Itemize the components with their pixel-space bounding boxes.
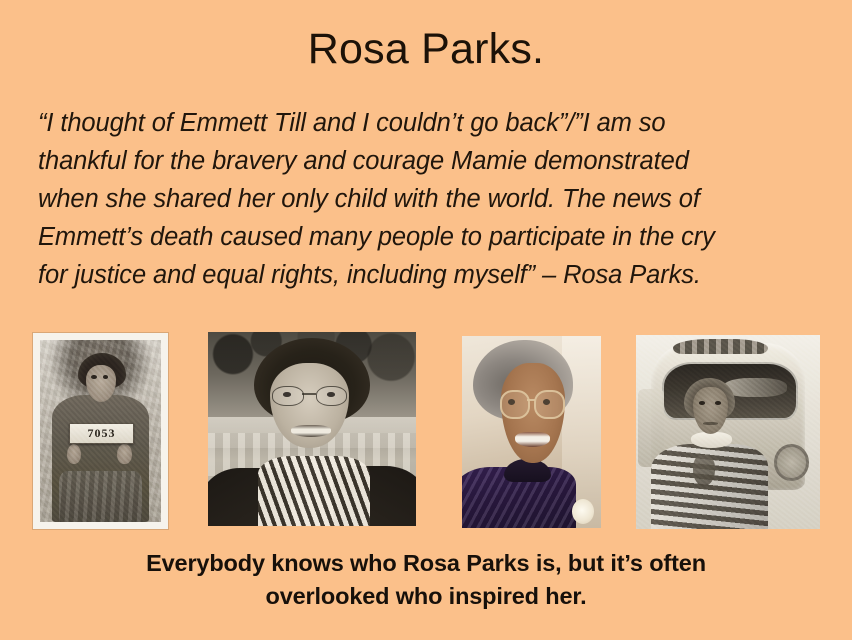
mugshot-image: 7053 — [40, 340, 161, 522]
young-portrait-image — [208, 332, 416, 526]
photo-rosa-parks-young-portrait — [208, 332, 416, 526]
quote-block: “I thought of Emmett Till and I couldn’t… — [38, 104, 810, 294]
bus-photo-film-grain — [636, 335, 820, 529]
young-portrait-glasses-lens-left — [272, 386, 303, 405]
photo-rosa-parks-mugshot: 7053 — [33, 333, 168, 529]
quote-line: thankful for the bravery and courage Mam… — [38, 142, 810, 180]
photo-rosa-parks-elderly-portrait — [462, 336, 601, 528]
young-portrait-glasses-bridge — [302, 393, 317, 395]
photo-strip: 7053 — [0, 331, 852, 531]
elderly-portrait-image — [462, 336, 601, 528]
elderly-portrait-corsage — [572, 499, 594, 524]
slide-canvas: Rosa Parks. “I thought of Emmett Till an… — [0, 0, 852, 640]
caption-line: overlooked who inspired her. — [0, 580, 852, 613]
photo-rosa-parks-bus — [636, 335, 820, 529]
quote-line: when she shared her only child with the … — [38, 180, 810, 218]
quote-line: “I thought of Emmett Till and I couldn’t… — [38, 104, 810, 142]
slide-caption: Everybody knows who Rosa Parks is, but i… — [0, 547, 852, 613]
elderly-portrait-glasses-lens-left — [500, 390, 530, 419]
elderly-portrait-glasses-bridge — [527, 399, 535, 401]
page-title: Rosa Parks. — [0, 26, 852, 73]
young-portrait-striped-scarf — [258, 456, 370, 526]
young-portrait-glasses-lens-right — [316, 386, 347, 405]
quote-line: for justice and equal rights, including … — [38, 256, 810, 294]
elderly-portrait-glasses-lens-right — [534, 390, 564, 419]
mugshot-film-grain — [40, 340, 161, 522]
bus-photo-image — [636, 335, 820, 529]
young-portrait-smile — [291, 425, 331, 437]
quote-line: Emmett’s death caused many people to par… — [38, 218, 810, 256]
caption-line: Everybody knows who Rosa Parks is, but i… — [0, 547, 852, 580]
